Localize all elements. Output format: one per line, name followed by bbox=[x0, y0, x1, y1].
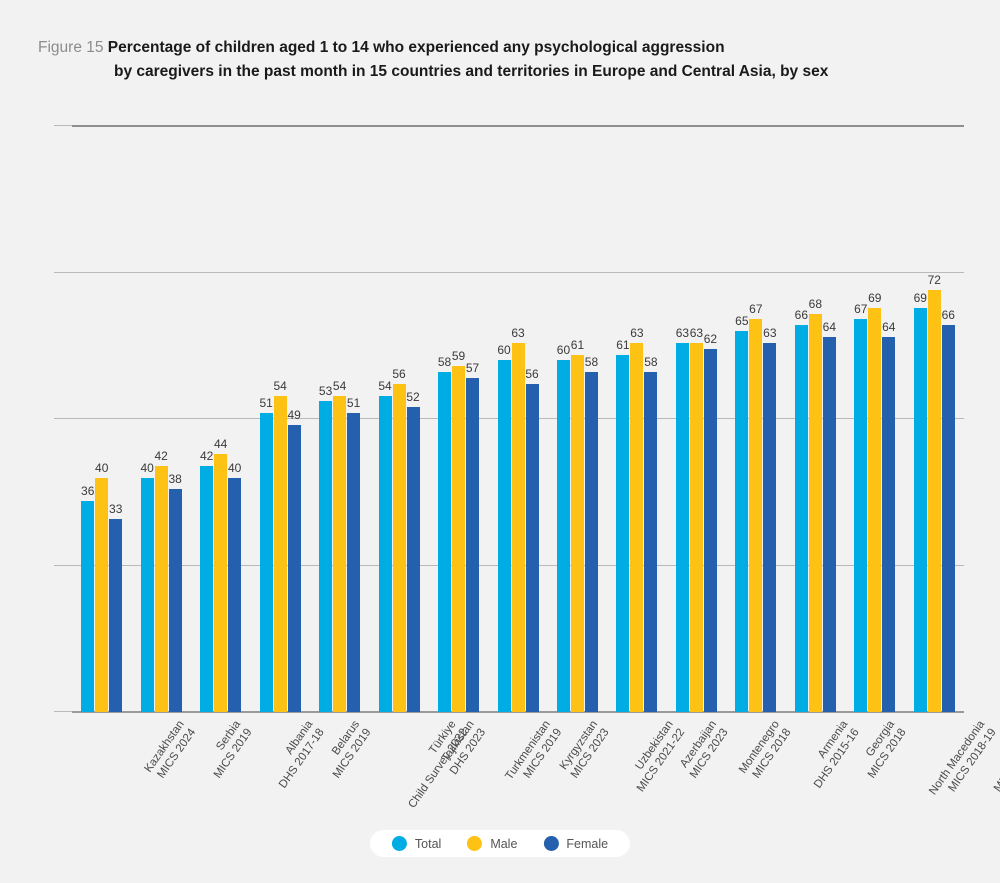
x-axis-label: KazakhstanMICS 2024 bbox=[141, 718, 198, 783]
bar-value-label: 72 bbox=[919, 273, 949, 287]
bar-male[interactable] bbox=[155, 466, 168, 712]
bar-value-label: 38 bbox=[160, 472, 190, 486]
bar-value-label: 69 bbox=[860, 291, 890, 305]
x-axis-label: GeorgiaMICS 2018 bbox=[854, 718, 910, 781]
bar-group: 364033 bbox=[81, 126, 122, 712]
bar-female[interactable] bbox=[347, 413, 360, 712]
figure-title-line-1: Figure 15 Percentage of children aged 1 … bbox=[38, 36, 938, 60]
bar-value-label: 54 bbox=[325, 379, 355, 393]
bar-total[interactable] bbox=[854, 319, 867, 712]
bar-group: 616358 bbox=[616, 126, 657, 712]
bar-value-label: 49 bbox=[279, 408, 309, 422]
bar-male[interactable] bbox=[452, 366, 465, 712]
bar-group: 585957 bbox=[438, 126, 479, 712]
x-axis-label: BelarusMICS 2019 bbox=[319, 718, 375, 781]
legend-swatch-male-icon bbox=[467, 836, 482, 851]
bar-male[interactable] bbox=[928, 290, 941, 712]
bar-value-label: 57 bbox=[458, 361, 488, 375]
x-axis-label: SerbiaMICS 2019 bbox=[200, 718, 256, 781]
bar-value-label: 52 bbox=[398, 390, 428, 404]
bar-total[interactable] bbox=[914, 308, 927, 712]
bar-female[interactable] bbox=[288, 425, 301, 712]
bar-total[interactable] bbox=[735, 331, 748, 712]
legend-item-total[interactable]: Total bbox=[392, 836, 441, 851]
chart-plot-area: 0%25%50%75%100%3640334042384244405154495… bbox=[72, 126, 964, 712]
y-axis-tick-mark bbox=[54, 418, 72, 419]
x-axis-label: UzbekistanMICS 2021-22 bbox=[623, 718, 688, 795]
y-axis-tick-mark bbox=[54, 565, 72, 566]
bar-total[interactable] bbox=[200, 466, 213, 712]
bar-female[interactable] bbox=[466, 378, 479, 712]
bar-group: 515449 bbox=[260, 126, 301, 712]
bar-value-label: 33 bbox=[101, 502, 131, 516]
legend-item-male[interactable]: Male bbox=[467, 836, 517, 851]
bar-value-label: 44 bbox=[206, 437, 236, 451]
legend-swatch-female-icon bbox=[543, 836, 558, 851]
y-axis-tick-mark bbox=[54, 125, 72, 126]
x-axis-label: TurkmenistanMICS 2019 bbox=[502, 718, 565, 791]
bar-group: 666864 bbox=[795, 126, 836, 712]
bar-female[interactable] bbox=[407, 407, 420, 712]
bar-male[interactable] bbox=[333, 396, 346, 712]
bar-group: 656763 bbox=[735, 126, 776, 712]
bar-total[interactable] bbox=[379, 396, 392, 712]
bar-value-label: 63 bbox=[755, 326, 785, 340]
bar-female[interactable] bbox=[109, 519, 122, 712]
bar-male[interactable] bbox=[690, 343, 703, 712]
legend-item-female[interactable]: Female bbox=[543, 836, 608, 851]
bar-female[interactable] bbox=[585, 372, 598, 712]
bar-group: 606356 bbox=[498, 126, 539, 712]
bar-value-label: 58 bbox=[576, 355, 606, 369]
bar-value-label: 51 bbox=[339, 396, 369, 410]
bar-value-label: 63 bbox=[503, 326, 533, 340]
bar-male[interactable] bbox=[393, 384, 406, 712]
bar-male[interactable] bbox=[571, 355, 584, 712]
x-axis-label: AlbaniaDHS 2017-18 bbox=[264, 718, 327, 791]
bar-total[interactable] bbox=[498, 360, 511, 712]
bar-value-label: 63 bbox=[622, 326, 652, 340]
bar-total[interactable] bbox=[795, 325, 808, 712]
chart-legend: TotalMaleFemale bbox=[370, 830, 630, 857]
bar-female[interactable] bbox=[882, 337, 895, 712]
bar-group: 424440 bbox=[200, 126, 241, 712]
bar-female[interactable] bbox=[823, 337, 836, 712]
x-axis-label: AzerbaijanMICS 2023 bbox=[675, 718, 731, 781]
bar-value-label: 62 bbox=[695, 332, 725, 346]
bar-value-label: 56 bbox=[384, 367, 414, 381]
bar-total[interactable] bbox=[319, 401, 332, 712]
legend-label: Female bbox=[566, 837, 608, 851]
bar-group: 404238 bbox=[141, 126, 182, 712]
bar-value-label: 64 bbox=[814, 320, 844, 334]
legend-swatch-total-icon bbox=[392, 836, 407, 851]
bar-male[interactable] bbox=[809, 314, 822, 712]
bar-male[interactable] bbox=[630, 343, 643, 712]
bar-value-label: 42 bbox=[146, 449, 176, 463]
bar-value-label: 68 bbox=[800, 297, 830, 311]
bar-female[interactable] bbox=[942, 325, 955, 712]
bar-male[interactable] bbox=[749, 319, 762, 712]
bar-female[interactable] bbox=[526, 384, 539, 712]
bar-male[interactable] bbox=[868, 308, 881, 712]
bar-total[interactable] bbox=[438, 372, 451, 712]
x-axis-label: KyrgyzstanMICS 2023 bbox=[557, 718, 613, 781]
y-axis-tick-mark bbox=[54, 272, 72, 273]
bar-value-label: 56 bbox=[517, 367, 547, 381]
figure-title-line-2: by caregivers in the past month in 15 co… bbox=[38, 60, 938, 84]
x-axis-label: MontenegroMICS 2018 bbox=[737, 718, 795, 784]
bar-value-label: 61 bbox=[562, 338, 592, 352]
bar-female[interactable] bbox=[169, 489, 182, 712]
bar-group: 676964 bbox=[854, 126, 895, 712]
bar-female[interactable] bbox=[228, 478, 241, 712]
bar-female[interactable] bbox=[763, 343, 776, 712]
bar-total[interactable] bbox=[557, 360, 570, 712]
bar-value-label: 66 bbox=[933, 308, 963, 322]
bar-total[interactable] bbox=[676, 343, 689, 712]
bar-female[interactable] bbox=[704, 349, 717, 712]
figure-header: Figure 15 Percentage of children aged 1 … bbox=[38, 36, 938, 84]
bar-group: 545652 bbox=[379, 126, 420, 712]
bar-value-label: 67 bbox=[741, 302, 771, 316]
x-axis-label: ArmeniaDHS 2015-16 bbox=[800, 718, 863, 791]
bar-total[interactable] bbox=[260, 413, 273, 712]
bar-group: 606158 bbox=[557, 126, 598, 712]
figure-title-text-2: by caregivers in the past month in 15 co… bbox=[114, 63, 828, 80]
legend-label: Male bbox=[490, 837, 517, 851]
y-axis-tick-mark bbox=[54, 711, 72, 712]
figure-number: Figure 15 bbox=[38, 39, 103, 56]
legend-label: Total bbox=[415, 837, 441, 851]
bar-value-label: 40 bbox=[87, 461, 117, 475]
bar-male[interactable] bbox=[214, 454, 227, 712]
bar-group: 636362 bbox=[676, 126, 717, 712]
bar-value-label: 40 bbox=[220, 461, 250, 475]
bar-value-label: 54 bbox=[265, 379, 295, 393]
bar-total[interactable] bbox=[81, 501, 94, 712]
bar-total[interactable] bbox=[616, 355, 629, 712]
x-axis-label: North MacedoniaMICS 2018-19 bbox=[926, 718, 999, 806]
bar-value-label: 58 bbox=[636, 355, 666, 369]
bar-group: 697266 bbox=[914, 126, 955, 712]
bar-male[interactable] bbox=[512, 343, 525, 712]
bar-male[interactable] bbox=[274, 396, 287, 712]
figure-title-text-1: Percentage of children aged 1 to 14 who … bbox=[108, 39, 725, 56]
bar-total[interactable] bbox=[141, 478, 154, 712]
bar-female[interactable] bbox=[644, 372, 657, 712]
bar-value-label: 64 bbox=[874, 320, 904, 334]
bar-group: 535451 bbox=[319, 126, 360, 712]
